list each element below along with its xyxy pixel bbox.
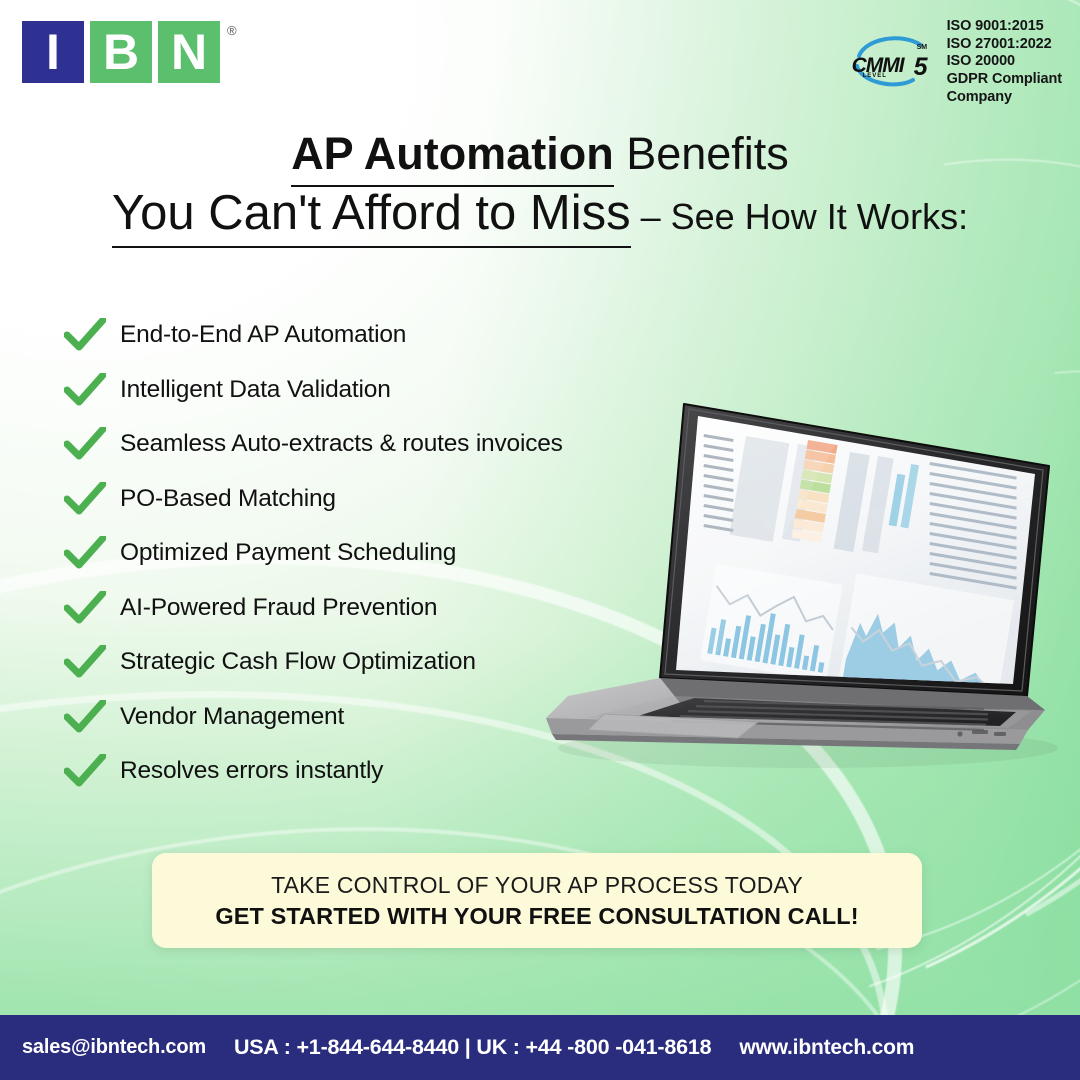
headline-line-1: AP Automation Benefits [0,126,1080,182]
benefit-label: End-to-End AP Automation [120,321,406,349]
check-icon [64,700,106,734]
certification-list: ISO 9001:2015 ISO 27001:2022 ISO 20000 G… [947,18,1062,106]
footer-website[interactable]: www.ibntech.com [739,1036,914,1060]
certification-line: Company [947,89,1062,107]
benefit-label: PO-Based Matching [120,485,336,513]
benefit-label: Seamless Auto-extracts & routes invoices [120,430,563,458]
headline-emphasis-2: You Can't Afford to Miss [112,186,631,248]
cta-line-2: GET STARTED WITH YOUR FREE CONSULTATION … [215,903,858,930]
ibn-logo[interactable]: I B N ® [22,21,237,83]
check-icon [64,427,106,461]
headline-emphasis: AP Automation [291,128,614,187]
footer-phone-numbers[interactable]: USA : +1-844-644-8440 | UK : +44 -800 -0… [234,1035,711,1060]
laptop-image [508,378,1080,778]
cmmi-sm-mark: SM [917,44,928,51]
footer-bar: sales@ibntech.com USA : +1-844-644-8440 … [0,1015,1080,1080]
logo-letter-b: B [90,21,152,83]
benefit-item: End-to-End AP Automation [64,308,684,363]
certification-line: ISO 20000 [947,53,1062,71]
check-icon [64,373,106,407]
logo-letter-n: N [158,21,220,83]
check-icon [64,482,106,516]
cta-banner[interactable]: TAKE CONTROL OF YOUR AP PROCESS TODAY GE… [152,853,922,948]
check-icon [64,318,106,352]
benefit-label: Strategic Cash Flow Optimization [120,648,476,676]
promotional-poster: I B N ® CMMI LEVEL SM 5 ISO 9001:2015 IS… [0,0,1080,1080]
check-icon [64,645,106,679]
certification-badge: CMMI LEVEL SM 5 ISO 9001:2015 ISO 27001:… [851,18,1062,106]
headline: AP Automation Benefits You Can't Afford … [0,126,1080,248]
registered-trademark-icon: ® [227,23,237,38]
cta-line-1: TAKE CONTROL OF YOUR AP PROCESS TODAY [271,872,803,899]
check-icon [64,754,106,788]
headline-line-2: You Can't Afford to Miss – See How It Wo… [0,182,1080,248]
benefit-label: Intelligent Data Validation [120,376,391,404]
footer-email[interactable]: sales@ibntech.com [22,1036,206,1059]
benefit-label: AI-Powered Fraud Prevention [120,594,437,622]
certification-line: ISO 9001:2015 [947,18,1062,36]
certification-line: ISO 27001:2022 [947,36,1062,54]
benefit-label: Resolves errors instantly [120,757,383,785]
check-icon [64,591,106,625]
benefit-label: Vendor Management [120,703,344,731]
headline-subtext: – See How It Works: [631,196,968,237]
headline-line-1-light: Benefits [614,128,789,179]
certification-line: GDPR Compliant [947,71,1062,89]
benefit-label: Optimized Payment Scheduling [120,539,456,567]
check-icon [64,536,106,570]
logo-letter-i: I [22,21,84,83]
cmmi-level-number: 5 [914,55,928,80]
cmmi-logo-icon: CMMI LEVEL SM 5 [851,30,939,94]
cmmi-level-label: LEVEL [863,73,887,79]
